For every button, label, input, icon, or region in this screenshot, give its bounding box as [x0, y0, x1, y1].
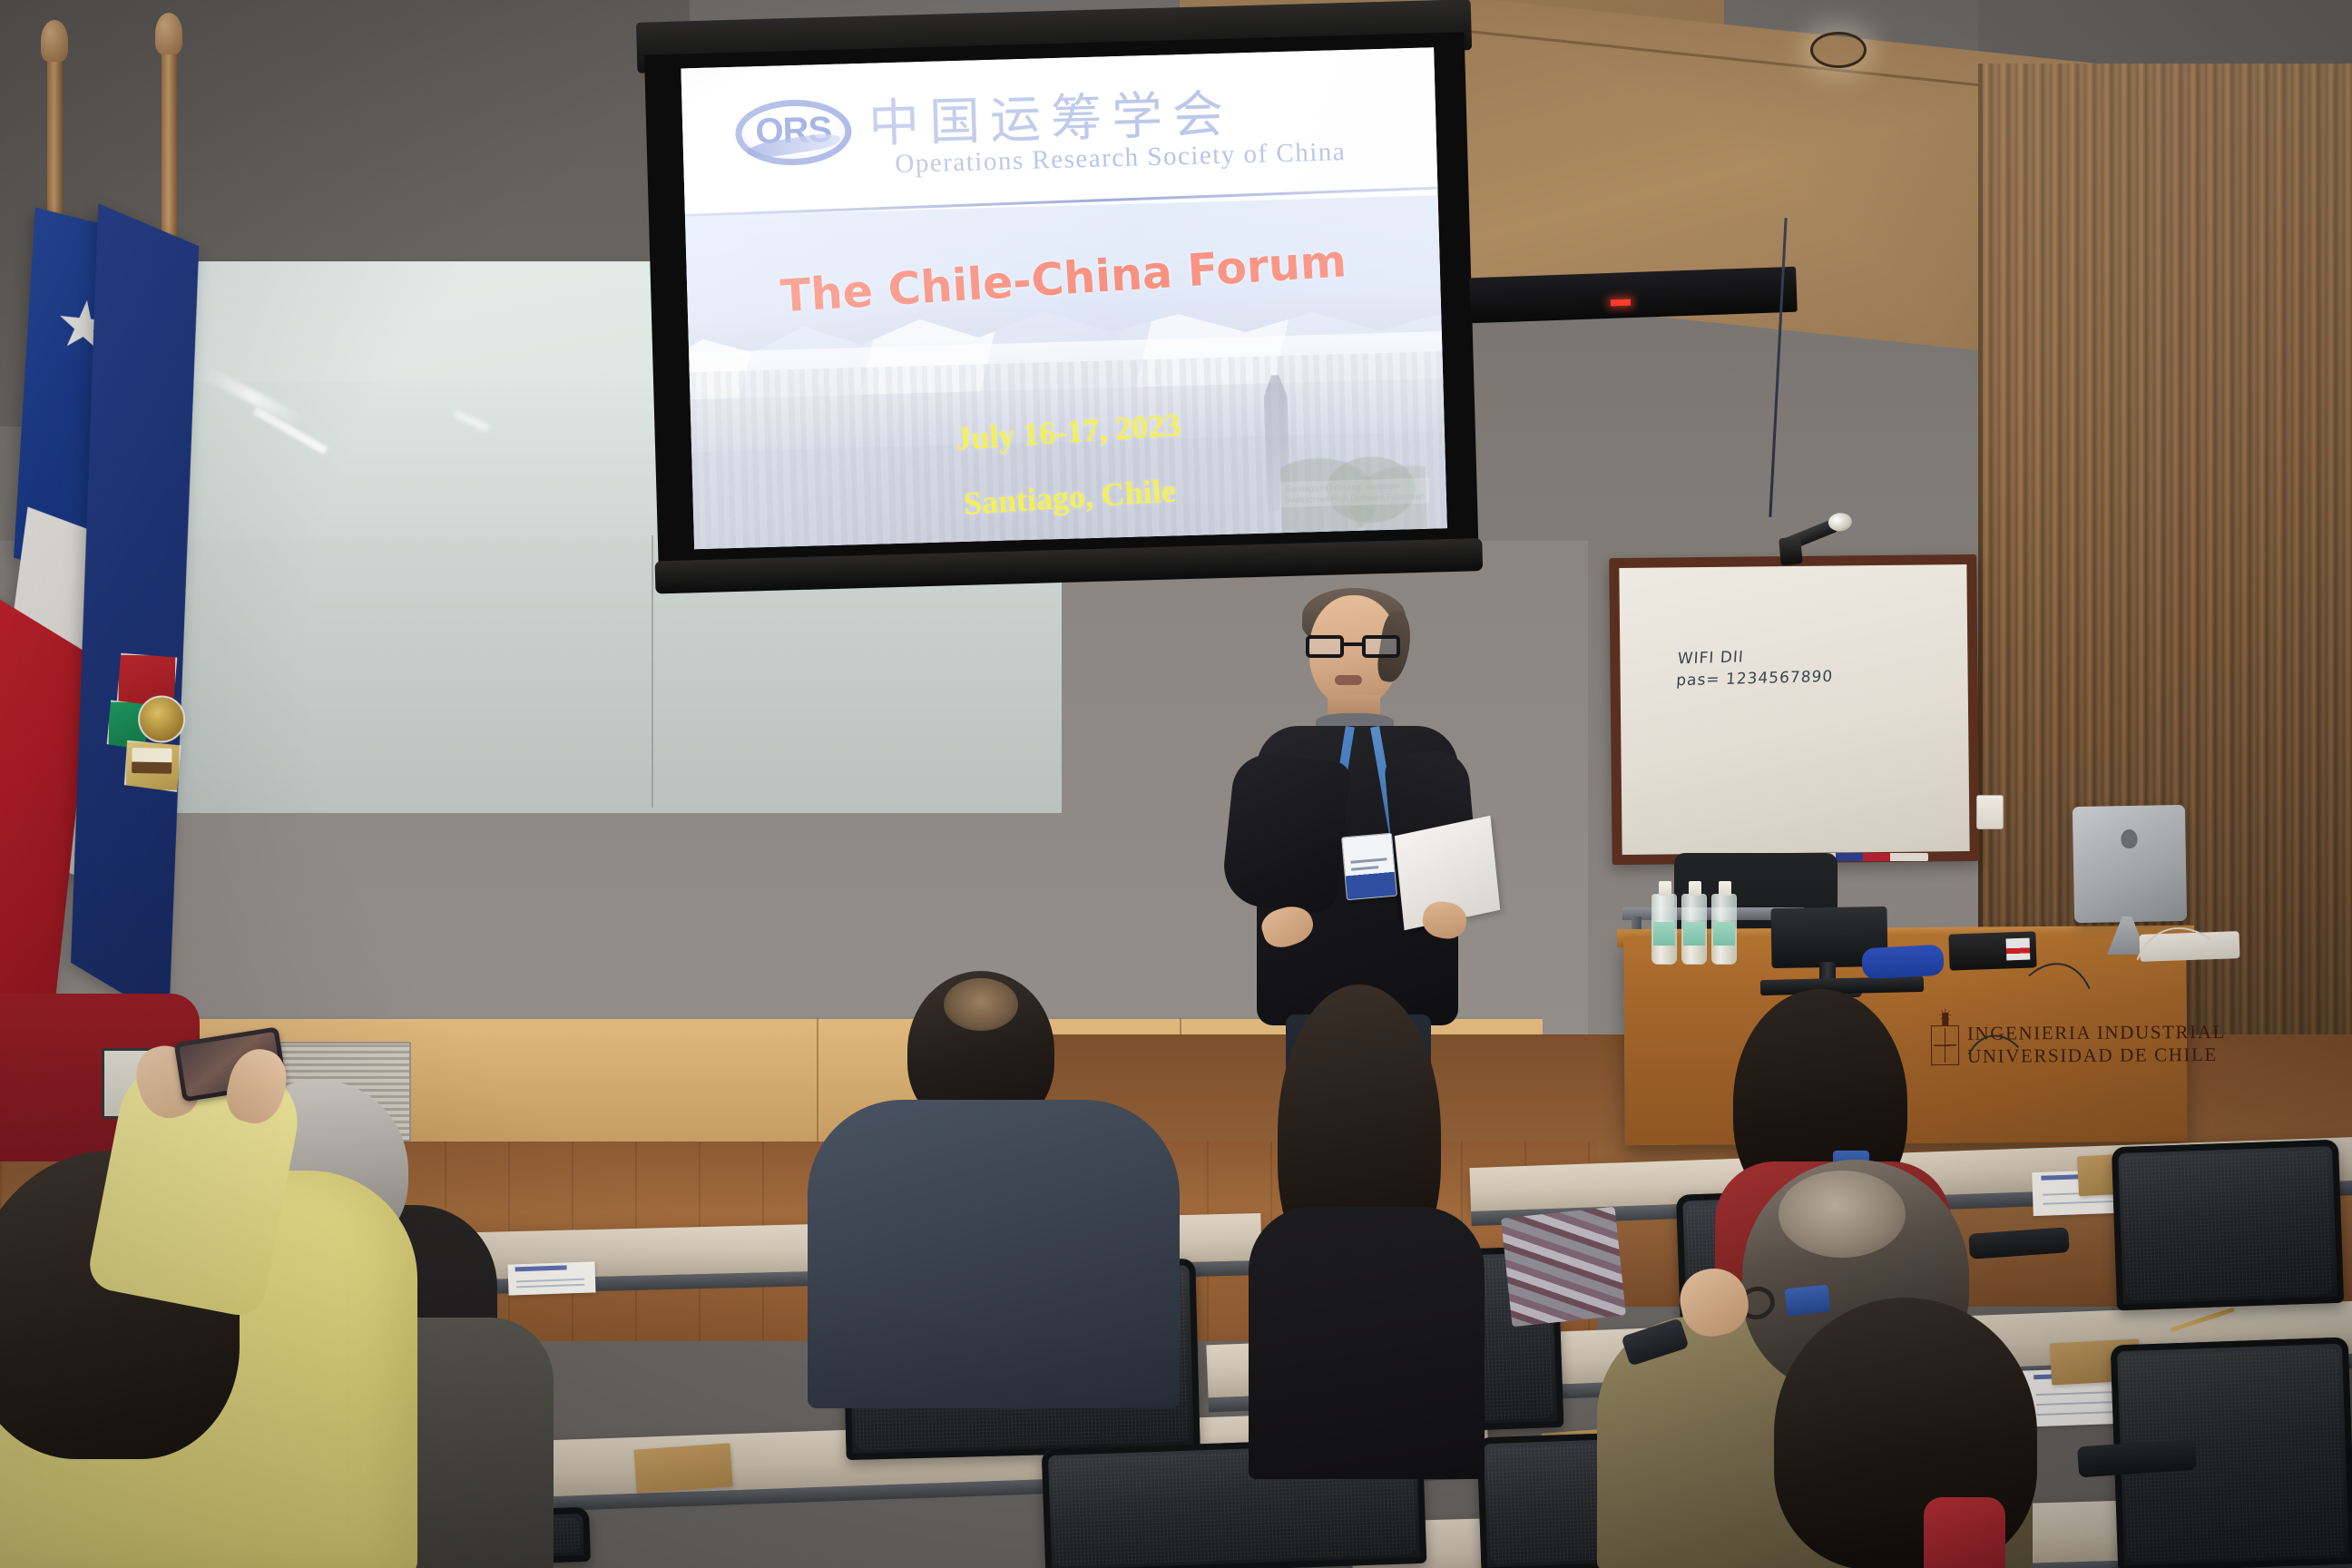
dark-top	[1249, 1207, 1485, 1479]
presenter-name-badge	[1341, 833, 1397, 901]
wall-power-outlet	[1976, 795, 2004, 829]
presenter-left-arm	[1220, 751, 1352, 915]
crest-gold-medallion	[138, 695, 186, 743]
whiteboard-surface	[1619, 564, 1969, 855]
presentation-slide: ORS 中国运筹学会 Operations Research Society o…	[681, 47, 1446, 549]
apple-logo-icon	[2121, 829, 2137, 848]
slide-wallpaper-watermark: Santiago HD desktop wallpaper Widescreen…	[1280, 478, 1430, 508]
imac-computer	[2073, 805, 2187, 923]
navy-suit-jacket	[808, 1100, 1180, 1408]
audience-chair[interactable]	[2112, 1140, 2344, 1311]
black-device-box	[1948, 931, 2036, 970]
handout-paper	[507, 1261, 595, 1295]
slide-background-photo: The Chile-China Forum July 16-17, 2023 S…	[685, 195, 1447, 549]
ceiling-light-icon	[1810, 32, 1867, 68]
glasses-icon	[1306, 635, 1400, 658]
wall-whiteboard	[1609, 554, 1980, 865]
scalp	[944, 978, 1018, 1031]
wainscot-seam	[817, 1018, 818, 1145]
slide-title: The Chile-China Forum	[686, 230, 1441, 328]
lanyard	[1785, 1285, 1831, 1317]
flagpole-finial	[41, 20, 68, 62]
university-flag-crest	[109, 653, 182, 813]
device-label	[2006, 938, 2031, 961]
lecture-room-photo: ORS 中国运筹学会 Operations Research Society o…	[0, 0, 2352, 1568]
flagpole-finial	[155, 13, 182, 54]
red-top	[1924, 1497, 2005, 1568]
whiteboard-line-2: pas= 1234567890	[1676, 666, 1834, 692]
water-bottles	[1651, 894, 1737, 965]
notebook	[633, 1443, 732, 1493]
universidad-de-chile-crest-icon	[1931, 1025, 1959, 1065]
presenter-mouth	[1335, 675, 1362, 685]
speaker-status-led-icon	[1611, 299, 1631, 307]
university-flag-field	[67, 203, 200, 1022]
plaid-scarf	[1501, 1207, 1626, 1328]
blue-equipment-case	[1861, 945, 1945, 980]
water-bottle	[1651, 894, 1677, 965]
short-throw-projector-icon	[1777, 507, 1850, 563]
ors-logo-icon: ORS	[734, 98, 852, 167]
water-bottle	[1681, 894, 1707, 965]
university-flag	[67, 203, 201, 1040]
water-bottle	[1711, 894, 1737, 965]
scalp	[1779, 1171, 1906, 1258]
whiteboard-handwriting: WIFI DII pas= 1234567890	[1676, 644, 1836, 692]
crest-book-icon	[132, 748, 171, 774]
projection-screen: ORS 中国运筹学会 Operations Research Society o…	[627, 0, 1487, 622]
